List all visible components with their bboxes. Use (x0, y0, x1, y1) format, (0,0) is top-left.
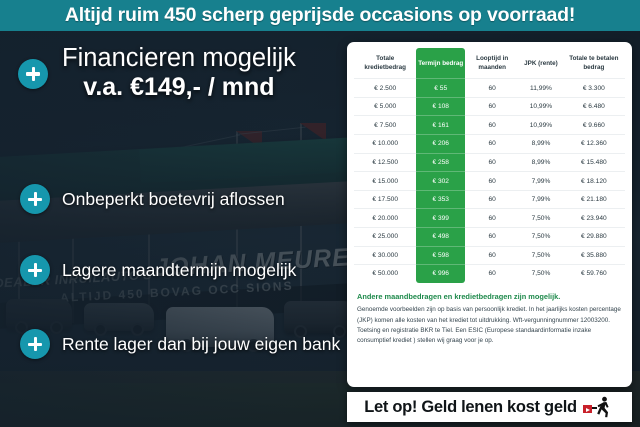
promo-headline-line1: Financieren mogelijk (62, 45, 296, 73)
cell-termijnbedrag: € 206 (416, 135, 465, 154)
top-banner: Altijd ruim 450 scherp geprijsde occasio… (0, 0, 640, 31)
table-row: € 50.000 € 996 60 7,50% € 59.760 (354, 265, 625, 283)
cell-termijnbedrag: € 996 (416, 265, 465, 283)
cell-jpk: 7,99% (519, 190, 562, 209)
promo-bullet-2: Lagere maandtermijn mogelijk (20, 255, 296, 285)
column-header-termijn-bedrag: Termijn bedrag (416, 48, 465, 79)
cell-kredietbedrag: € 15.000 (354, 172, 416, 191)
cell-looptijd: 60 (465, 97, 519, 116)
cell-jpk: 10,99% (519, 116, 562, 135)
credit-warning-bar: Let op! Geld lenen kost geld (347, 392, 632, 422)
cell-termijnbedrag: € 399 (416, 209, 465, 228)
rates-table-head: Totale kredietbedrag Termijn bedrag Loop… (354, 48, 625, 79)
table-row: € 17.500 € 353 60 7,99% € 21.180 (354, 190, 625, 209)
cell-totaal: € 3.300 (563, 79, 625, 98)
cell-kredietbedrag: € 30.000 (354, 246, 416, 265)
disclaimer-body: Genoemde voorbeelden zijn op basis van p… (357, 305, 622, 346)
afm-walking-man-icon (583, 396, 615, 418)
cell-termijnbedrag: € 598 (416, 246, 465, 265)
rates-table-body: € 2.500 € 55 60 11,99% € 3.300 € 5.000 €… (354, 79, 625, 283)
cell-kredietbedrag: € 2.500 (354, 79, 416, 98)
disclaimer-title: Andere maandbedragen en kredietbedragen … (357, 292, 622, 302)
table-row: € 30.000 € 598 60 7,50% € 35.880 (354, 246, 625, 265)
cell-termijnbedrag: € 55 (416, 79, 465, 98)
rates-table: Totale kredietbedrag Termijn bedrag Loop… (354, 48, 625, 283)
cell-kredietbedrag: € 50.000 (354, 265, 416, 283)
plus-icon (20, 184, 50, 214)
promo-headline-line2: v.a. €149,- / mnd (62, 73, 296, 103)
cell-jpk: 8,99% (519, 135, 562, 154)
cell-termijnbedrag: € 108 (416, 97, 465, 116)
plus-icon (20, 255, 50, 285)
cell-looptijd: 60 (465, 265, 519, 283)
top-banner-headline: Altijd ruim 450 scherp geprijsde occasio… (65, 4, 575, 27)
cell-looptijd: 60 (465, 153, 519, 172)
rates-card: Totale kredietbedrag Termijn bedrag Loop… (347, 42, 632, 387)
cell-kredietbedrag: € 17.500 (354, 190, 416, 209)
promo-bullet-1-label: Onbeperkt boetevrij aflossen (62, 189, 285, 210)
cell-jpk: 11,99% (519, 79, 562, 98)
cell-jpk: 7,50% (519, 209, 562, 228)
plus-icon (20, 329, 50, 359)
cell-jpk: 8,99% (519, 153, 562, 172)
table-row: € 12.500 € 258 60 8,99% € 15.480 (354, 153, 625, 172)
cell-jpk: 7,50% (519, 265, 562, 283)
cell-totaal: € 9.660 (563, 116, 625, 135)
banner-stage: Altijd ruim 450 scherp geprijsde occasio… (0, 0, 640, 427)
cell-totaal: € 23.940 (563, 209, 625, 228)
table-row: € 2.500 € 55 60 11,99% € 3.300 (354, 79, 625, 98)
cell-totaal: € 6.480 (563, 97, 625, 116)
cell-termijnbedrag: € 353 (416, 190, 465, 209)
promo-bullet-3: Rente lager dan bij jouw eigen bank (20, 329, 340, 359)
table-row: € 7.500 € 161 60 10,99% € 9.660 (354, 116, 625, 135)
promo-bullet-3-label: Rente lager dan bij jouw eigen bank (62, 334, 340, 355)
table-row: € 15.000 € 302 60 7,99% € 18.120 (354, 172, 625, 191)
cell-totaal: € 35.880 (563, 246, 625, 265)
cell-jpk: 7,50% (519, 246, 562, 265)
promo-bullet-2-label: Lagere maandtermijn mogelijk (62, 260, 296, 281)
table-row: € 20.000 € 399 60 7,50% € 23.940 (354, 209, 625, 228)
cell-termijnbedrag: € 498 (416, 228, 465, 247)
cell-jpk: 7,99% (519, 172, 562, 191)
cell-looptijd: 60 (465, 190, 519, 209)
table-row: € 25.000 € 498 60 7,50% € 29.880 (354, 228, 625, 247)
cell-totaal: € 21.180 (563, 190, 625, 209)
table-row: € 5.000 € 108 60 10,99% € 6.480 (354, 97, 625, 116)
rates-header-row: Totale kredietbedrag Termijn bedrag Loop… (354, 48, 625, 79)
column-header-looptijd: Looptijd in maanden (465, 48, 519, 79)
cell-kredietbedrag: € 10.000 (354, 135, 416, 154)
cell-looptijd: 60 (465, 172, 519, 191)
cell-termijnbedrag: € 258 (416, 153, 465, 172)
promo-headline-texts: Financieren mogelijk v.a. €149,- / mnd (62, 45, 296, 102)
cell-termijnbedrag: € 161 (416, 116, 465, 135)
cell-kredietbedrag: € 25.000 (354, 228, 416, 247)
column-header-totale-kredietbedrag: Totale kredietbedrag (354, 48, 416, 79)
cell-looptijd: 60 (465, 228, 519, 247)
column-header-jpk: JPK (rente) (519, 48, 562, 79)
cell-kredietbedrag: € 20.000 (354, 209, 416, 228)
promo-bullet-list: Financieren mogelijk v.a. €149,- / mnd O… (0, 31, 345, 427)
cell-totaal: € 29.880 (563, 228, 625, 247)
cell-kredietbedrag: € 12.500 (354, 153, 416, 172)
credit-warning-text: Let op! Geld lenen kost geld (364, 398, 577, 417)
cell-jpk: 10,99% (519, 97, 562, 116)
column-header-totale-te-betalen: Totale te betalen bedrag (563, 48, 625, 79)
cell-looptijd: 60 (465, 116, 519, 135)
cell-looptijd: 60 (465, 209, 519, 228)
plus-icon (18, 59, 48, 89)
cell-totaal: € 15.480 (563, 153, 625, 172)
cell-termijnbedrag: € 302 (416, 172, 465, 191)
cell-totaal: € 59.760 (563, 265, 625, 283)
promo-headline: Financieren mogelijk v.a. €149,- / mnd (18, 45, 296, 102)
cell-looptijd: 60 (465, 79, 519, 98)
cell-looptijd: 60 (465, 246, 519, 265)
cell-kredietbedrag: € 7.500 (354, 116, 416, 135)
cell-jpk: 7,50% (519, 228, 562, 247)
cell-totaal: € 18.120 (563, 172, 625, 191)
cell-kredietbedrag: € 5.000 (354, 97, 416, 116)
cell-totaal: € 12.360 (563, 135, 625, 154)
cell-looptijd: 60 (465, 135, 519, 154)
table-row: € 10.000 € 206 60 8,99% € 12.360 (354, 135, 625, 154)
promo-bullet-1: Onbeperkt boetevrij aflossen (20, 184, 285, 214)
